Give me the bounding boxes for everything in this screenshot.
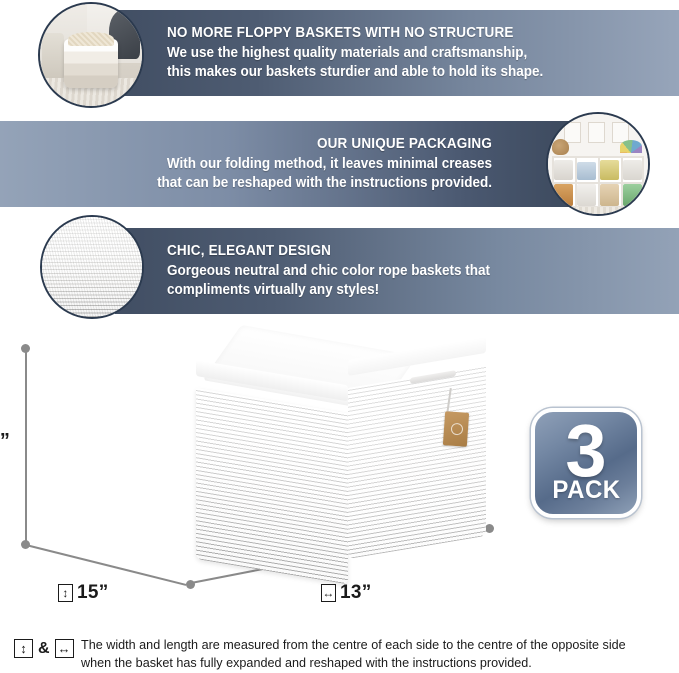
feature-photo-rope-texture: [40, 215, 144, 319]
room-side-panel: [42, 33, 64, 80]
nursery-picture-frame: [564, 122, 581, 143]
feature-photo-nursery-shelf: [546, 112, 650, 216]
shelf-item: [600, 160, 619, 180]
horizontal-arrow-icon: ↔: [321, 584, 336, 602]
shelf-item: [554, 160, 573, 180]
feature-heading-design: CHIC, ELEGANT DESIGN: [167, 243, 626, 259]
width-label-group: ↕ 15”: [58, 582, 109, 604]
horizontal-arrow-icon: ↔: [55, 639, 74, 658]
nursery-rainbow-toy: [620, 140, 642, 153]
feature-photo-living-room: [38, 2, 144, 108]
leather-hangtag: [443, 411, 469, 447]
nursery-picture-frame: [588, 122, 605, 143]
ampersand-symbol: &: [38, 640, 50, 658]
product-infographic: NO MORE FLOPPY BASKETS WITH NO STRUCTURE…: [0, 0, 679, 673]
feature-banner-packaging: OUR UNIQUE PACKAGING With our folding me…: [0, 121, 570, 207]
feature-text-packaging: OUR UNIQUE PACKAGING With our folding me…: [0, 136, 570, 192]
nursery-teddy-bear: [552, 139, 569, 155]
basket-side-panel: [348, 365, 486, 559]
height-dimension-line: [25, 350, 27, 544]
nursery-rug: [552, 207, 644, 214]
depth-label-group: ↔ 13”: [321, 582, 372, 604]
room-basket-contents: [68, 32, 115, 46]
feature-body-line2-structure: this makes our baskets sturdier and able…: [167, 63, 626, 82]
basket-front-panel: [196, 388, 348, 584]
feature-body-line1-structure: We use the highest quality materials and…: [167, 44, 626, 63]
disclaimer-icons: ↕ & ↔: [14, 636, 74, 658]
feature-body-line2-design: compliments virtually any styles!: [167, 281, 626, 300]
feature-body-line1-design: Gorgeous neutral and chic color rope bas…: [167, 262, 626, 281]
feature-body-line1-packaging: With our folding method, it leaves minim…: [51, 155, 492, 174]
feature-heading-structure: NO MORE FLOPPY BASKETS WITH NO STRUCTURE: [167, 25, 626, 41]
disclaimer-line1: The width and length are measured from t…: [81, 636, 626, 654]
feature-body-line2-packaging: that can be reshaped with the instructio…: [51, 174, 492, 193]
shelf-item: [623, 160, 642, 180]
feature-heading-packaging: OUR UNIQUE PACKAGING: [51, 136, 492, 152]
feature-banner-structure: NO MORE FLOPPY BASKETS WITH NO STRUCTURE…: [115, 10, 679, 96]
height-label: 13”: [0, 430, 10, 453]
feature-text-structure: NO MORE FLOPPY BASKETS WITH NO STRUCTURE…: [115, 25, 679, 81]
pack-count-word: PACK: [552, 478, 620, 503]
disclaimer-text: The width and length are measured from t…: [81, 636, 643, 671]
pack-count-number: 3: [565, 421, 606, 482]
shelf-item: [577, 184, 596, 206]
shelf-item: [577, 162, 596, 180]
width-label: 15”: [77, 582, 109, 604]
width-dimension-line: [26, 544, 186, 585]
pack-count-badge: 3 PACK: [531, 408, 641, 518]
depth-label: 13”: [340, 582, 372, 604]
vertical-arrow-icon: ↕: [58, 584, 73, 602]
dimension-endpoint-dot: [21, 344, 30, 353]
shelf-item: [554, 184, 573, 206]
shelf-item: [623, 184, 642, 206]
shelf-item: [600, 184, 619, 206]
room-rope-basket: [64, 39, 117, 88]
feature-text-design: CHIC, ELEGANT DESIGN Gorgeous neutral an…: [115, 243, 679, 299]
feature-banner-design: CHIC, ELEGANT DESIGN Gorgeous neutral an…: [115, 228, 679, 314]
measurement-disclaimer: ↕ & ↔ The width and length are measured …: [14, 636, 674, 671]
product-basket-image: [196, 348, 486, 563]
product-dimension-diagram: 13” ↕ 15” ↔ 13” 3 PACK: [0, 330, 679, 625]
rope-weave-overlay: [42, 217, 142, 317]
vertical-arrow-icon: ↕: [14, 639, 33, 658]
dimension-endpoint-dot: [485, 524, 494, 533]
disclaimer-line2: when the basket has fully expanded and r…: [81, 654, 626, 672]
